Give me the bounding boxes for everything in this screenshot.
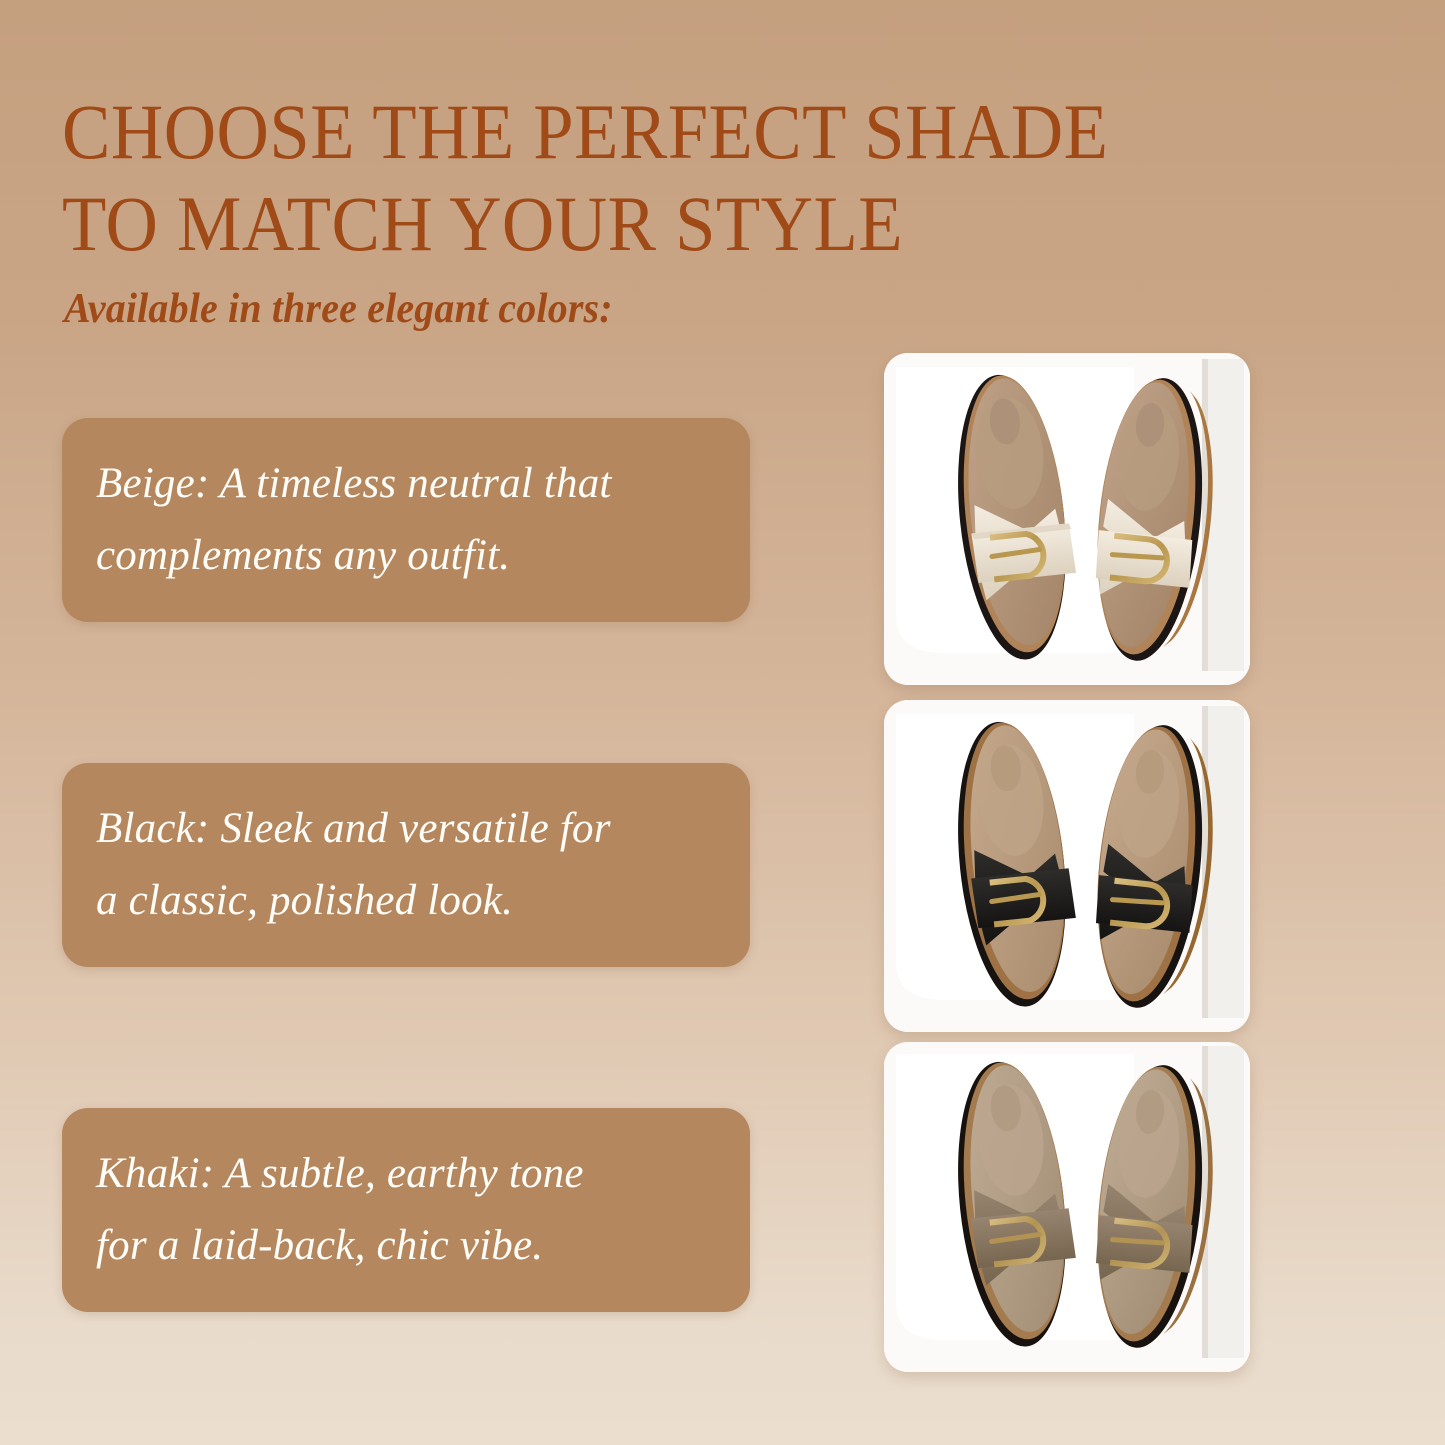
color-option-description: Black: Sleek and versatile for a classic…	[96, 793, 611, 937]
page-title: CHOOSE THE PERFECT SHADE TO MATCH YOUR S…	[62, 86, 1122, 270]
color-option-description: Khaki: A subtle, earthy tone for a laid-…	[96, 1138, 584, 1282]
poster-canvas: CHOOSE THE PERFECT SHADE TO MATCH YOUR S…	[0, 0, 1445, 1445]
product-photo-beige[interactable]	[884, 353, 1250, 685]
subtitle: Available in three elegant colors:	[64, 285, 613, 333]
product-photo-khaki[interactable]	[884, 1042, 1250, 1372]
sandal-pair-beige-illustration	[884, 353, 1250, 685]
sandal-pair-khaki-illustration	[884, 1042, 1250, 1372]
color-option-card-black[interactable]: Black: Sleek and versatile for a classic…	[62, 763, 750, 967]
color-option-card-khaki[interactable]: Khaki: A subtle, earthy tone for a laid-…	[62, 1108, 750, 1312]
sandal-pair-black-illustration	[884, 700, 1250, 1032]
color-option-description: Beige: A timeless neutral that complemen…	[96, 448, 612, 592]
color-option-card-beige[interactable]: Beige: A timeless neutral that complemen…	[62, 418, 750, 622]
product-photo-black[interactable]	[884, 700, 1250, 1032]
